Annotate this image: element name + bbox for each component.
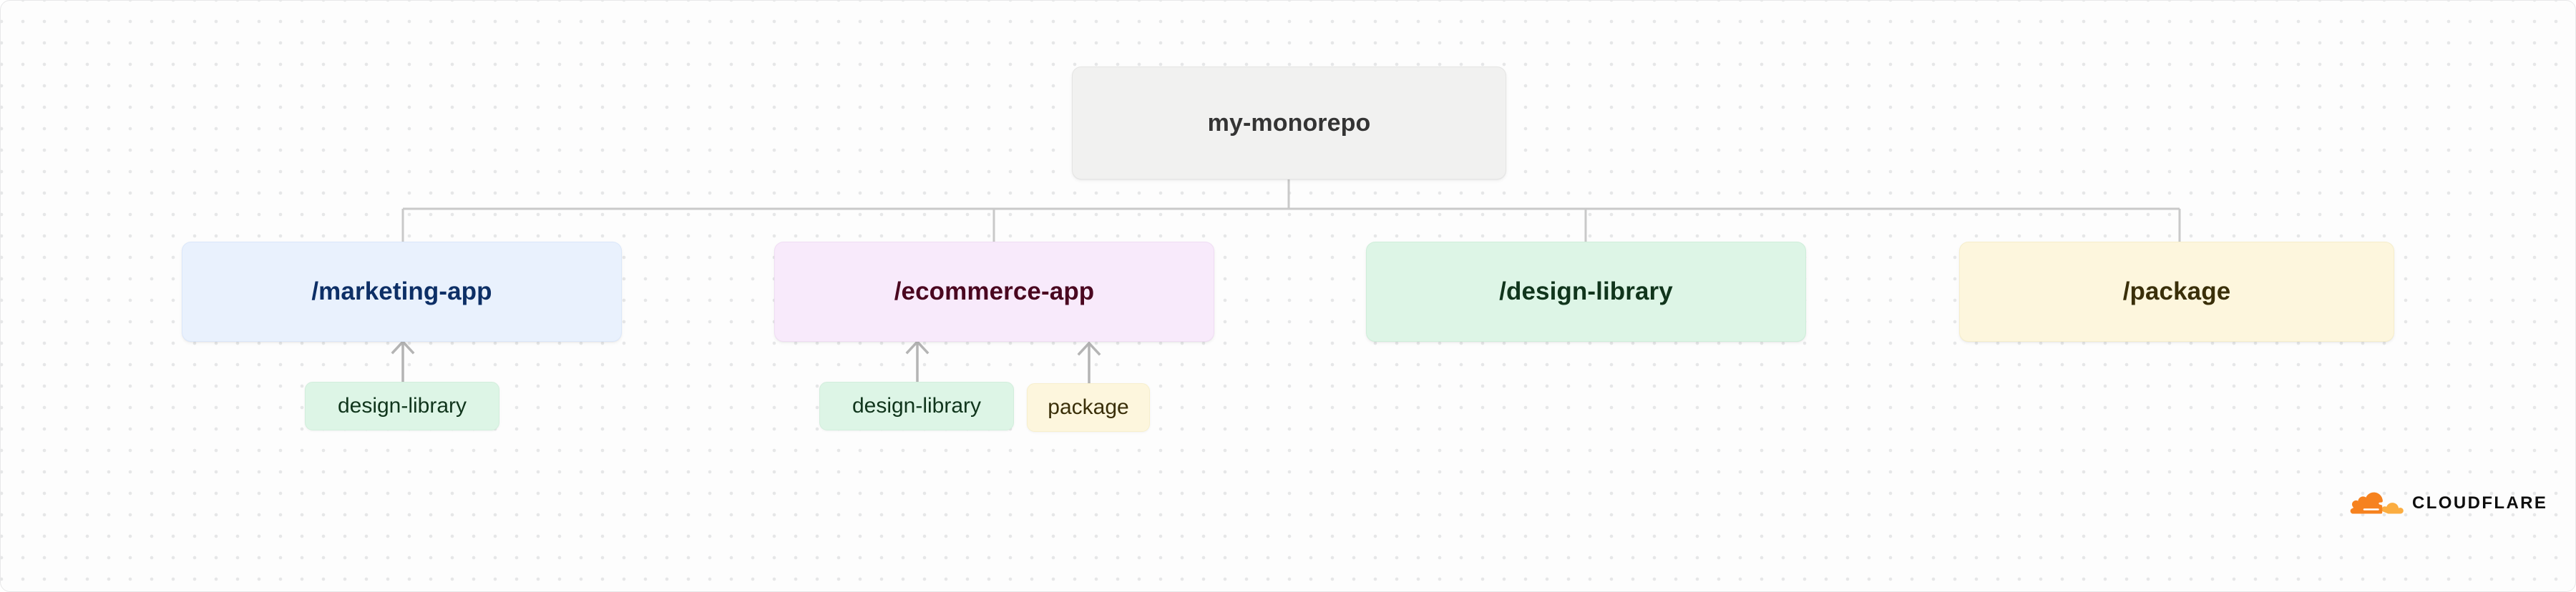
node-marketing-app[interactable]: /marketing-app (182, 242, 622, 342)
dependency-pill-label: package (1048, 395, 1128, 420)
node-package[interactable]: /package (1959, 242, 2394, 342)
node-label-design-library: /design-library (1499, 277, 1673, 306)
node-label-package: /package (2123, 277, 2231, 306)
dependency-pill-marketing-design-library[interactable]: design-library (305, 382, 499, 430)
dependency-pill-ecommerce-design-library[interactable]: design-library (819, 382, 1014, 430)
cloudflare-logo: CLOUDFLARE (2348, 490, 2547, 517)
dependency-pill-ecommerce-package[interactable]: package (1027, 383, 1150, 432)
node-label-my-monorepo: my-monorepo (1208, 109, 1371, 137)
node-label-marketing-app: /marketing-app (311, 277, 492, 306)
arrowhead-ecommerce-design-library (907, 342, 927, 352)
cloudflare-cloud-icon (2348, 490, 2404, 517)
node-my-monorepo[interactable]: my-monorepo (1072, 66, 1506, 179)
dependency-pill-label: design-library (852, 394, 981, 418)
diagram-canvas: my-monorepo /marketing-app /ecommerce-ap… (0, 0, 2576, 592)
cloudflare-wordmark: CLOUDFLARE (2412, 495, 2547, 512)
node-label-ecommerce-app: /ecommerce-app (894, 277, 1095, 306)
arrowhead-ecommerce-package (1079, 343, 1099, 354)
node-ecommerce-app[interactable]: /ecommerce-app (774, 242, 1214, 342)
arrowhead-marketing-design-library (393, 342, 413, 352)
dependency-pill-label: design-library (338, 394, 467, 418)
node-design-library[interactable]: /design-library (1366, 242, 1806, 342)
